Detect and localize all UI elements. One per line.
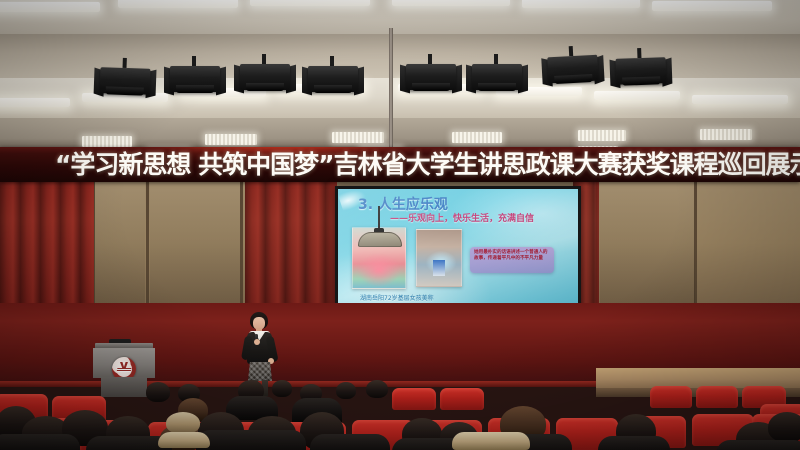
- event-banner: “学习新思想 共筑中国梦”吉林省大学生讲思政课大赛获奖课程巡回展示活: [0, 147, 800, 182]
- slide-subtitle: ——乐观向上，快乐生活，充满自信: [390, 211, 534, 224]
- stage-spotlight: [166, 64, 224, 98]
- stage-spotlight: [236, 62, 294, 96]
- audience-fur-collar: [158, 432, 210, 448]
- ceiling-upper-slab: [0, 0, 800, 36]
- slide-photo-left: [352, 227, 406, 289]
- stage-spotlight: [611, 55, 670, 91]
- tube-light: [250, 0, 370, 6]
- tube-light: [0, 98, 70, 107]
- stage-spotlight: [95, 65, 154, 101]
- ceiling-support-pole: [389, 28, 393, 153]
- audience-shoulders: [598, 436, 670, 450]
- recessed-panel-light: [332, 132, 384, 143]
- tube-light: [652, 1, 772, 11]
- audience-head: [146, 382, 170, 402]
- auditorium-seat: [392, 388, 436, 410]
- stage-spotlight: [402, 62, 460, 96]
- audience-head: [768, 412, 800, 442]
- recessed-panel-light: [452, 132, 502, 143]
- slide-callout-text: 她用最朴实的话语讲述一个普通人的故事，传递着平凡中的不平凡力量: [470, 247, 554, 262]
- auditorium-seat: [696, 386, 738, 408]
- recessed-panel-light: [700, 129, 752, 140]
- tube-light: [392, 0, 510, 6]
- tube-light: [594, 91, 680, 100]
- stage-spotlight: [543, 53, 603, 90]
- auditorium-seat: [650, 386, 692, 408]
- recessed-panel-light: [82, 136, 132, 147]
- slide-callout-box: 她用最朴实的话语讲述一个普通人的故事，传递着平凡中的不平凡力量: [470, 247, 554, 273]
- presenter-hand-left: [254, 339, 260, 345]
- tube-light: [118, 0, 238, 8]
- audience-shoulders: [310, 434, 390, 450]
- recessed-panel-light: [578, 130, 626, 141]
- audience-head-light-hair: [166, 412, 200, 434]
- tube-light: [692, 95, 788, 104]
- lectern-front-panel: [93, 348, 155, 378]
- audience-shoulders: [0, 434, 80, 450]
- auditorium-photo: “学习新思想 共筑中国梦”吉林省大学生讲思政课大赛获奖课程巡回展示活 3. 人生…: [0, 0, 800, 450]
- audience-head: [336, 382, 356, 399]
- audience-head: [272, 380, 292, 397]
- banner-title-text: “学习新思想 共筑中国梦”吉林省大学生讲思政课大赛获奖课程巡回展示活: [55, 149, 800, 180]
- slide-photo-right: [416, 229, 462, 287]
- auditorium-seat: [440, 388, 484, 410]
- audience-head: [366, 380, 388, 398]
- audience-seating: [0, 378, 800, 450]
- audience-shoulders: [716, 440, 800, 450]
- recessed-panel-light: [205, 134, 257, 145]
- audience-shoulders: [196, 430, 306, 450]
- tube-light: [522, 0, 640, 8]
- slide-photo-caption: 湖南岳阳72岁基层女孩美称: [360, 293, 434, 302]
- tube-light: [0, 2, 100, 12]
- audience-fur-collar: [452, 432, 530, 450]
- stage-spotlight: [468, 62, 526, 96]
- stage-spotlight: [304, 64, 362, 98]
